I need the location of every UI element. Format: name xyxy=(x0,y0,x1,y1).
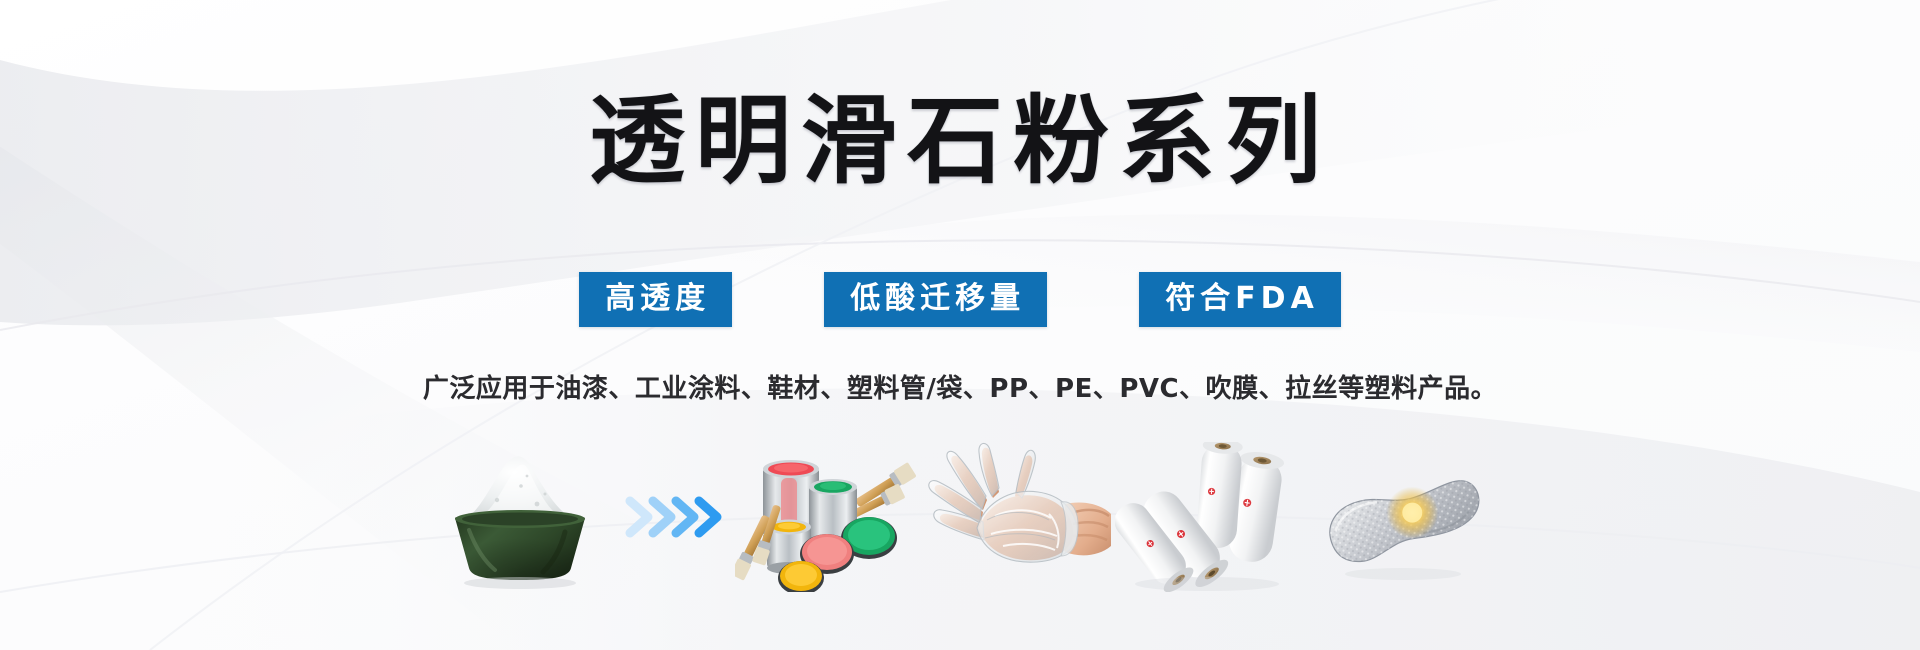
shoe-sole-icon xyxy=(1305,442,1495,592)
application-description: 广泛应用于油漆、工业涂料、鞋材、塑料管/袋、PP、PE、PVC、吹膜、拉丝等塑料… xyxy=(0,368,1920,405)
film-rolls-icon xyxy=(1115,442,1305,592)
page-title: 透明滑石粉系列 xyxy=(0,90,1920,194)
film-rolls-image xyxy=(1115,442,1305,592)
product-application-strip xyxy=(0,437,1920,597)
shoe-sole-image xyxy=(1305,442,1495,592)
plastic-glove-image xyxy=(925,442,1115,592)
talc-powder-bowl-icon xyxy=(425,442,615,592)
paint-cans-image xyxy=(735,442,925,592)
talc-powder-bowl-image xyxy=(425,442,615,592)
feature-badge-group: 高透度 低酸迁移量 符合FDA xyxy=(0,272,1920,327)
product-banner: 透明滑石粉系列 高透度 低酸迁移量 符合FDA 广泛应用于油漆、工业涂料、鞋材、… xyxy=(0,0,1920,650)
feature-badge-fda-compliant: 符合FDA xyxy=(1139,272,1341,327)
paint-cans-icon xyxy=(735,442,925,592)
flow-arrows xyxy=(615,442,735,592)
chevron-right-icon xyxy=(620,487,730,547)
plastic-glove-icon xyxy=(925,442,1115,592)
feature-badge-high-transparency: 高透度 xyxy=(579,272,732,327)
feature-badge-low-acid-migration: 低酸迁移量 xyxy=(824,272,1047,327)
